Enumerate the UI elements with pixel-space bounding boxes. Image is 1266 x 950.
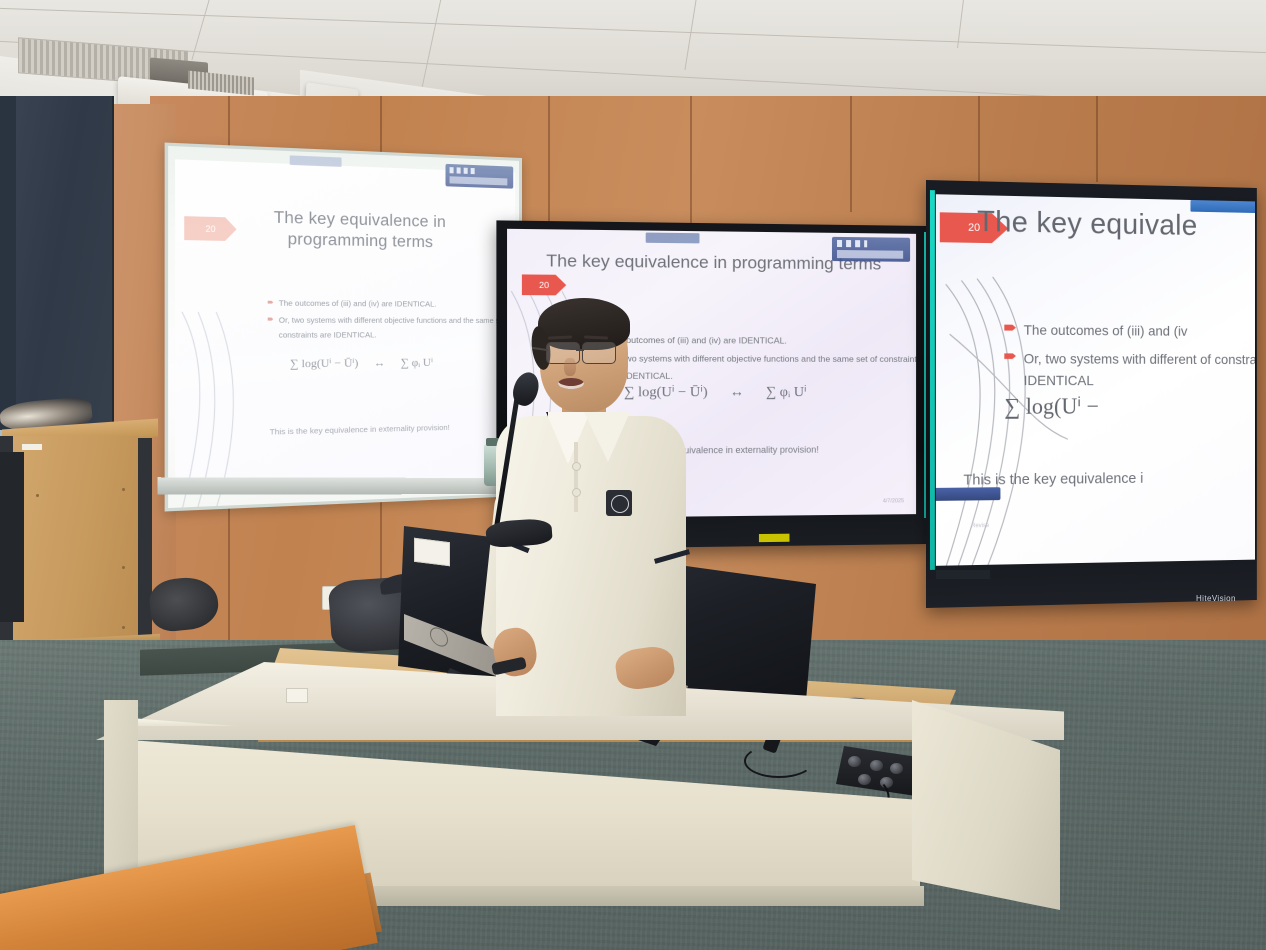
display-control-strip[interactable] — [936, 570, 990, 579]
screen-edge-glow-right — [930, 190, 935, 570]
presenter-placket — [574, 442, 578, 512]
formula-equiv-center: ↔ — [711, 385, 762, 400]
lectern-asset-label — [22, 444, 42, 450]
cable-loop — [744, 744, 814, 778]
presenter — [488, 292, 688, 712]
toolbar-icons — [450, 167, 476, 174]
formula-right-text: ∑ log(Uⁱ − — [1004, 394, 1099, 419]
slide-note-right: This is the key equivalence i — [963, 470, 1143, 489]
presenter-button-1 — [572, 462, 581, 471]
left-board-bullet-1: The outcomes of (iii) and (iv) are IDENT… — [268, 297, 522, 313]
whiteboard-tray — [157, 477, 524, 495]
formula-rhs-center: ∑ φᵢ Uⁱ — [766, 385, 807, 400]
slide-date-stamp: 4/7/2025 — [883, 498, 904, 504]
powerpoint-toolbar-overlay[interactable] — [446, 164, 514, 189]
glasses-bridge — [576, 349, 584, 351]
presenter-mouth — [558, 378, 584, 389]
left-board-bullet-2: Or, two systems with different objective… — [268, 313, 522, 342]
projection-whiteboard: 20 The key equivalence in programming te… — [165, 143, 522, 512]
monitor-left-asset-label — [414, 538, 450, 566]
toolbar-row-center — [837, 250, 903, 259]
taskbar-chip-right[interactable] — [936, 487, 1001, 501]
left-board-formula-rhs: ∑ φᵢ Uⁱ — [401, 357, 433, 370]
display-brand-label: HiteVision — [1196, 594, 1236, 603]
asset-sticker — [759, 534, 790, 542]
right-display-screen: 20 The key equivale The outcomes of (iii… — [936, 194, 1255, 566]
slide-bullets-right: The outcomes of (iii) and (iv Or, two sy… — [965, 318, 1255, 398]
slide-bullet-right-2: Or, two systems with different of constr… — [1004, 347, 1255, 392]
presenter-shirt-logo-inner — [611, 495, 629, 513]
toolbar-overlay-right[interactable] — [1190, 200, 1255, 213]
toolbar-row — [450, 176, 508, 185]
left-board-title: The key equivalence in programming terms — [225, 206, 489, 254]
slide-bullet-right-1: The outcomes of (iii) and (iv — [1004, 319, 1255, 343]
right-display[interactable]: 20 The key equivale The outcomes of (iii… — [926, 180, 1257, 608]
presenter-button-2 — [572, 488, 581, 497]
left-board-formula-lhs: ∑ log(Uⁱ − Ūⁱ) — [290, 357, 358, 370]
desk-asset-label — [286, 688, 308, 703]
window-tab-bar-center[interactable] — [646, 233, 700, 244]
window-tab-bar[interactable] — [290, 155, 342, 167]
toolbar-icons-center — [837, 240, 867, 247]
slide-formula-right: ∑ log(Uⁱ − — [1004, 394, 1099, 420]
presenter-nose — [564, 358, 576, 376]
lectern-edge-right — [138, 438, 152, 646]
left-board-formula: ∑ log(Uⁱ − Ūⁱ) ↔ ∑ φᵢ Uⁱ — [221, 355, 496, 371]
glasses-icon-right-lens — [582, 342, 616, 364]
slide-footer-right: Revise — [971, 523, 989, 529]
powerpoint-toolbar-overlay-center[interactable] — [832, 237, 910, 262]
left-board-bullets: The outcomes of (iii) and (iv) are IDENT… — [223, 296, 522, 345]
projected-slide-left: 20 The key equivalence in programming te… — [175, 159, 515, 492]
lectern-panel — [0, 452, 24, 622]
left-board-formula-equiv: ↔ — [361, 357, 398, 370]
lecture-hall-photo: 20 The key equivalence in programming te… — [0, 0, 1266, 950]
